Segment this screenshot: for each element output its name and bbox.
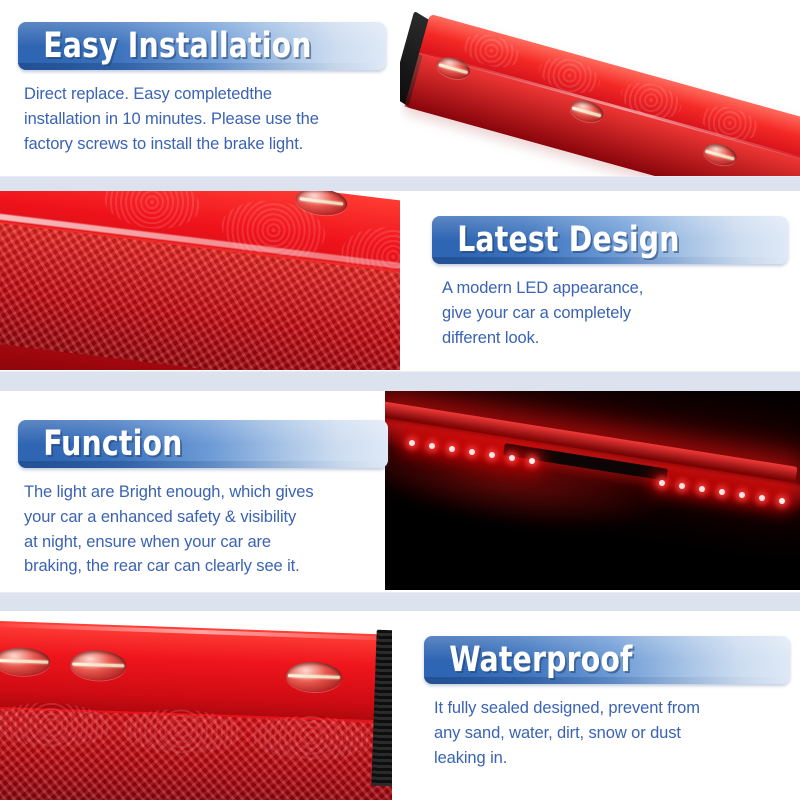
- led-point: [509, 455, 515, 461]
- led-point: [489, 452, 495, 458]
- body-line: different look.: [442, 326, 788, 351]
- body-line: your car a enhanced safety & visibility: [24, 505, 388, 530]
- photo-lens-texture-macro: [0, 190, 400, 370]
- body-line: give your car a completely: [442, 301, 788, 326]
- led-point: [409, 440, 415, 446]
- photo-sealed-housing-closeup: [0, 610, 392, 800]
- led-point: [529, 458, 535, 464]
- body-line: any sand, water, dirt, snow or dust: [434, 721, 790, 746]
- led-point: [739, 492, 745, 498]
- infographic-page: Easy Installation Direct replace. Easy c…: [0, 0, 800, 800]
- section-body-installation: Direct replace. Easy completedthe instal…: [18, 82, 386, 156]
- led-point: [759, 495, 765, 501]
- body-line: A modern LED appearance,: [442, 276, 788, 301]
- led-point: [719, 489, 725, 495]
- body-line: The light are Bright enough, which gives: [24, 480, 388, 505]
- section-function-text: Function The light are Bright enough, wh…: [18, 420, 388, 579]
- section-title: Waterproof: [424, 643, 633, 678]
- housing-waffle-texture: [0, 708, 392, 800]
- section-banner-design: Latest Design: [432, 216, 788, 264]
- section-waterproof-text: Waterproof It fully sealed designed, pre…: [424, 636, 790, 770]
- body-line: leaking in.: [434, 746, 790, 771]
- photo-illuminated-led-bar-night: [385, 390, 800, 590]
- section-design-text: Latest Design A modern LED appearance, g…: [432, 216, 788, 350]
- body-line: at night, ensure when your car are: [24, 530, 388, 555]
- led-point: [779, 498, 785, 504]
- divider-2: [0, 371, 800, 391]
- body-line: Direct replace. Easy completedthe: [24, 82, 386, 107]
- section-body-function: The light are Bright enough, which gives…: [18, 480, 388, 579]
- led-point: [679, 483, 685, 489]
- section-title: Easy Installation: [18, 29, 312, 64]
- led-point: [469, 449, 475, 455]
- led-point: [429, 443, 435, 449]
- section-banner-installation: Easy Installation: [18, 22, 386, 70]
- section-title: Function: [18, 427, 183, 462]
- section-banner-function: Function: [18, 420, 388, 468]
- divider-1: [0, 176, 800, 191]
- section-banner-waterproof: Waterproof: [424, 636, 790, 684]
- body-line: braking, the rear car can clearly see it…: [24, 554, 388, 579]
- divider-3: [0, 592, 800, 611]
- section-installation-text: Easy Installation Direct replace. Easy c…: [18, 22, 386, 156]
- section-body-design: A modern LED appearance, give your car a…: [432, 276, 788, 350]
- body-line: factory screws to install the brake ligh…: [24, 132, 386, 157]
- body-line: It fully sealed designed, prevent from: [434, 696, 790, 721]
- led-point: [659, 480, 665, 486]
- body-line: installation in 10 minutes. Please use t…: [24, 107, 386, 132]
- section-body-waterproof: It fully sealed designed, prevent from a…: [424, 696, 790, 770]
- led-point: [699, 486, 705, 492]
- edge-highlight: [0, 622, 392, 641]
- photo-angled-brake-light-bar: [400, 0, 800, 176]
- led-point: [449, 446, 455, 452]
- section-title: Latest Design: [432, 223, 680, 258]
